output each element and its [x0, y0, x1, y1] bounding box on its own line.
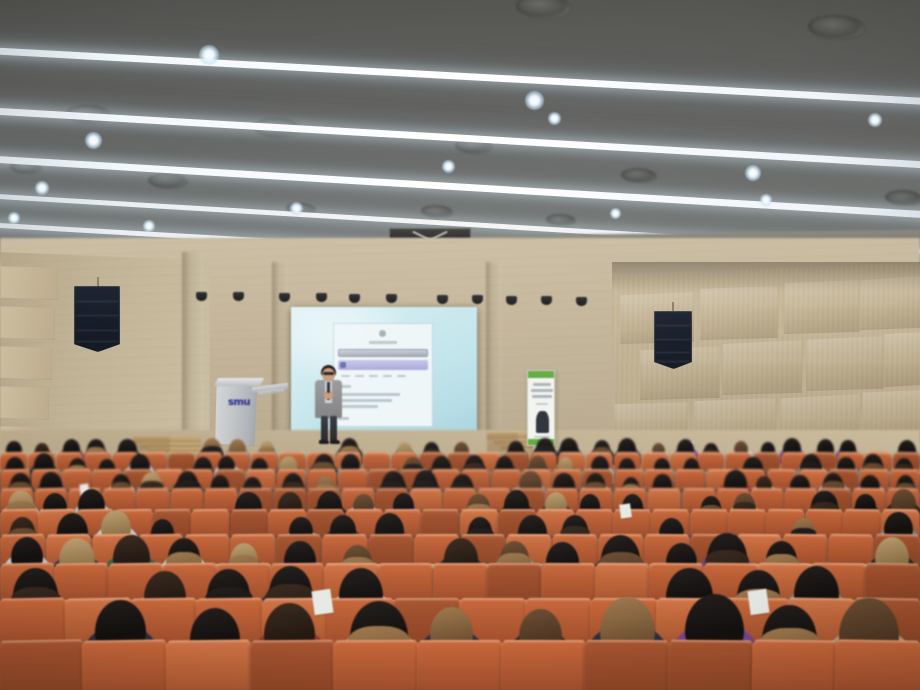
seat-top-highlight [790, 598, 853, 602]
seat-top-highlight [423, 509, 459, 512]
seat-top-highlight [799, 469, 827, 472]
seat-top-highlight [587, 452, 612, 455]
handout-paper [619, 504, 632, 519]
stage-light-9 [541, 296, 552, 305]
seat-top-highlight [1, 452, 26, 455]
seat-top-highlight [48, 534, 90, 538]
seat-top-highlight [768, 509, 804, 512]
seat-top-highlight [308, 509, 344, 512]
seat-top-highlight [252, 452, 277, 455]
stage-light-8 [506, 296, 517, 305]
stage-light-2 [279, 293, 290, 302]
audience-seat [249, 640, 336, 690]
seat-top-highlight [699, 452, 724, 455]
seat-top-highlight [554, 534, 596, 537]
seat-top-highlight [754, 452, 779, 455]
presenter-glasses [323, 372, 334, 375]
slide-body-line-3 [338, 399, 392, 402]
slide-col-4 [383, 375, 392, 377]
ceiling-downlight-16 [868, 113, 882, 127]
seat-top-highlight [376, 488, 407, 491]
seat-top-highlight [691, 509, 727, 512]
audience-seat [333, 640, 419, 690]
seat-top-highlight [342, 488, 373, 491]
seat-top-highlight [646, 469, 674, 472]
seat-top-highlight [671, 452, 696, 455]
ceiling-downlight-9 [525, 91, 544, 110]
seat-top-highlight [868, 563, 919, 567]
banner-header-band [528, 371, 554, 378]
stage-light-7 [472, 295, 483, 304]
seat-top-highlight [651, 563, 702, 566]
seat-top-highlight [531, 452, 556, 455]
seat-top-highlight [272, 563, 323, 566]
ceiling-downlight-10 [548, 112, 561, 125]
wall-panel-tile-5 [722, 340, 802, 395]
slide-body-line-4 [338, 405, 378, 408]
seat-top-highlight [730, 509, 766, 512]
stage-light-4 [349, 294, 360, 303]
seat-top-highlight [324, 534, 366, 537]
right-wall-top-shadow [612, 262, 920, 292]
audience-seat [417, 640, 503, 690]
slide-highlighted-row [338, 360, 428, 370]
slide-row-checkbox [340, 362, 346, 368]
seat-top-highlight [396, 598, 459, 601]
seat-top-highlight [420, 452, 445, 455]
seat-top-highlight [280, 452, 305, 455]
wall-column-recess-right [486, 262, 502, 442]
seat-top-highlight [1, 597, 64, 601]
seat-top-highlight [337, 640, 416, 643]
acoustic-fin-1 [0, 306, 55, 340]
seat-top-highlight [39, 509, 75, 513]
ceiling-downlight-0 [199, 45, 219, 65]
seat-top-highlight [726, 452, 751, 455]
seat-top-highlight [35, 488, 66, 492]
slide-col-3 [369, 375, 378, 377]
ceiling-downlight-2 [35, 181, 49, 195]
seat-top-highlight [186, 534, 228, 537]
seat-top-highlight [830, 534, 872, 538]
stage-light-6 [437, 295, 448, 304]
seat-top-highlight [751, 488, 782, 491]
seat-top-highlight [705, 563, 756, 567]
ceiling-downlight-4 [143, 220, 155, 232]
seat-top-highlight [216, 469, 244, 472]
seat-top-highlight [435, 563, 486, 566]
seat-top-highlight [431, 469, 459, 472]
seat-top-highlight [253, 640, 332, 644]
seat-top-highlight [224, 452, 249, 455]
acoustic-fin-0 [0, 266, 58, 300]
line-array-speaker-right [654, 311, 692, 369]
seat-top-highlight [554, 469, 582, 472]
banner-portrait [536, 411, 549, 433]
stage-light-1 [233, 292, 244, 301]
banner-headline-1 [533, 383, 551, 386]
audience-seat [751, 639, 838, 690]
seat-top-highlight [370, 534, 412, 537]
seat-top-highlight [581, 488, 612, 491]
seat-top-highlight [218, 563, 269, 567]
seat-top-highlight [755, 640, 834, 644]
seat-top-highlight [784, 534, 826, 538]
seat-top-highlight [676, 469, 704, 472]
seat-top-highlight [785, 488, 816, 491]
seat-top-highlight [717, 488, 748, 491]
seat-top-highlight [584, 469, 612, 472]
seat-top-highlight [1, 469, 29, 473]
standing-banner [527, 370, 555, 446]
seat-top-highlight [839, 639, 918, 643]
ceiling-downlight-3 [8, 212, 20, 224]
line-array-speaker-left [74, 286, 120, 352]
seat-top-highlight [462, 534, 504, 537]
audience-seat [584, 640, 670, 690]
seat-top-highlight [277, 469, 305, 472]
seat-top-highlight [247, 469, 275, 472]
seat-top-highlight [649, 488, 680, 491]
seat-top-highlight [308, 488, 339, 491]
seat-top-highlight [615, 469, 643, 472]
seat-top-highlight [416, 534, 458, 537]
slide-app-title [369, 341, 397, 344]
seat-top-highlight [346, 509, 382, 512]
seat-top-highlight [462, 469, 490, 472]
seat-top-highlight [738, 534, 780, 537]
seat-top-highlight [876, 534, 918, 538]
presenter-leg-right [330, 416, 337, 442]
wall-column-recess-left [182, 252, 204, 452]
seat-top-highlight [462, 598, 525, 601]
stage-light-10 [576, 297, 587, 306]
slide-col-1 [341, 375, 350, 377]
seat-top-highlight [231, 509, 267, 512]
ceiling-downlight-14 [610, 208, 621, 219]
seat-top-highlight [308, 469, 336, 472]
audience-seat [613, 509, 652, 537]
seat-top-highlight [57, 452, 82, 455]
seat-top-highlight [138, 488, 169, 491]
audience-seat [421, 509, 460, 537]
handout-paper [747, 588, 769, 615]
slide-app-logo-icon [379, 330, 386, 337]
lectern-top-surface [214, 378, 264, 386]
ceiling-downlight-12 [760, 194, 772, 206]
wall-panel-tile-6 [806, 336, 884, 391]
seat-top-highlight [576, 509, 612, 512]
seat-top-highlight [489, 563, 540, 566]
seat-top-highlight [339, 469, 367, 472]
seat-top-highlight [392, 452, 417, 455]
seat-top-highlight [615, 452, 640, 455]
ceiling-downlight-11 [745, 165, 761, 181]
seat-top-highlight [806, 509, 842, 513]
seat-top-highlight [853, 488, 884, 492]
presenter-shoe-right [330, 440, 340, 444]
seat-top-highlight [133, 598, 196, 602]
seat-top-highlight [448, 452, 473, 455]
seat-top-highlight [538, 509, 574, 512]
speaker-left-hanger [97, 277, 99, 287]
seat-top-highlight [475, 452, 500, 455]
seat-top-highlight [559, 452, 584, 455]
seat-top-highlight [444, 488, 475, 491]
seat-top-highlight [782, 452, 807, 455]
presenter-leg-left [321, 416, 328, 442]
audience-seat [0, 639, 85, 690]
ceiling-downlight-8 [442, 160, 455, 173]
seat-top-highlight [478, 488, 509, 491]
seat-top-highlight [85, 639, 164, 643]
seat-top-highlight [504, 640, 583, 643]
seat-top-highlight [672, 640, 751, 644]
seat-top-highlight [588, 640, 667, 643]
seat-top-highlight [1, 563, 52, 567]
seat-top-highlight [93, 469, 121, 472]
seat-top-highlight [503, 452, 528, 455]
stage-light-5 [386, 294, 397, 303]
seat-top-highlight [169, 452, 194, 455]
stage-light-3 [316, 293, 327, 302]
seat-top-highlight [543, 563, 594, 566]
seat-top-highlight [240, 488, 271, 491]
seat-top-highlight [278, 534, 320, 537]
seat-top-highlight [1, 509, 37, 513]
seat-top-highlight [63, 469, 91, 472]
audience-seat [835, 639, 920, 690]
audience-seat [166, 639, 253, 690]
seat-top-highlight [646, 534, 688, 537]
speaker-right-hanger [672, 302, 674, 311]
banner-headline-3 [532, 395, 552, 398]
stage-light-0 [196, 292, 207, 301]
lectern [215, 384, 257, 446]
microphone [327, 386, 330, 393]
seat-top-highlight [232, 534, 274, 537]
seat-top-highlight [547, 488, 578, 491]
ceiling-downlight-6 [290, 202, 303, 215]
seat-top-highlight [85, 452, 110, 455]
seat-top-highlight [838, 452, 863, 455]
seat-top-highlight [269, 509, 305, 512]
handout-paper [312, 588, 334, 615]
seat-top-highlight [830, 469, 858, 472]
seat-top-highlight [597, 563, 648, 566]
slide-body-line-2 [338, 393, 400, 396]
acoustic-fin-2 [0, 346, 52, 380]
banner-subline [536, 403, 548, 405]
seat-top-highlight [385, 509, 421, 512]
seat-top-highlight [461, 509, 497, 512]
seat-top-highlight [860, 469, 888, 472]
seat-top-highlight [500, 509, 536, 512]
slide-col-2 [355, 375, 364, 377]
wall-panel-tile-7 [884, 332, 920, 387]
seat-top-highlight [140, 534, 182, 538]
seat-top-highlight [172, 488, 203, 491]
seat-top-highlight [760, 563, 811, 567]
seat-top-highlight [164, 563, 215, 567]
audience-seat [501, 640, 587, 690]
seat-top-highlight [274, 488, 305, 491]
wall-column-recess-mid [272, 262, 288, 442]
wall-panel-tile-1 [700, 286, 778, 340]
seat-top-highlight [364, 452, 389, 455]
seat-top-highlight [206, 488, 237, 491]
acoustic-fin-3 [0, 386, 49, 420]
banner-headline-2 [531, 389, 553, 392]
audience-seat [668, 640, 755, 690]
audience-seat [338, 469, 368, 490]
seat-top-highlight [193, 509, 229, 512]
seat-top-highlight [56, 563, 107, 567]
slide-search-bar [338, 349, 428, 357]
seat-top-highlight [643, 452, 668, 455]
seat-top-highlight [768, 469, 796, 472]
seat-top-highlight [2, 639, 81, 644]
seat-top-highlight [154, 509, 190, 512]
seat-top-highlight [894, 452, 919, 455]
seat-top-highlight [891, 469, 919, 472]
seat-top-highlight [420, 640, 499, 643]
seat-top-highlight [615, 488, 646, 491]
slide-col-5 [397, 375, 406, 377]
seat-top-highlight [155, 469, 183, 472]
seat-top-highlight [683, 488, 714, 491]
seat-top-highlight [527, 598, 590, 601]
audience-seat [82, 639, 169, 690]
seat-top-highlight [197, 452, 222, 455]
seat-top-highlight [380, 563, 431, 566]
seat-top-highlight [508, 534, 550, 537]
presenter-shoe-left [319, 440, 329, 444]
seat-top-highlight [653, 509, 689, 512]
seat-top-highlight [198, 598, 261, 602]
seat-top-highlight [845, 509, 881, 513]
seat-top-highlight [32, 469, 60, 472]
seat-top-highlight [410, 488, 441, 491]
seat-top-highlight [103, 488, 134, 491]
ceiling-downlight-1 [85, 132, 102, 149]
auditorium-photo: smu [0, 0, 920, 690]
seat-top-highlight [110, 563, 161, 567]
seat-top-highlight [326, 563, 377, 566]
seat-top-highlight [169, 640, 248, 644]
smu-logo: smu [228, 398, 250, 408]
seat-top-highlight [492, 469, 520, 472]
